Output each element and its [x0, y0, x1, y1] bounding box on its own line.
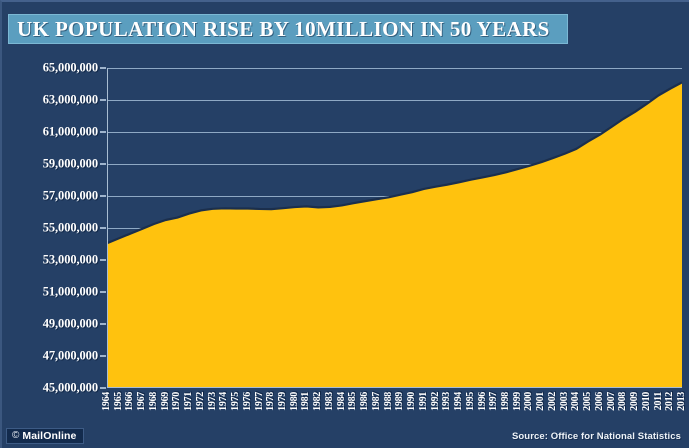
x-axis-tick-label: 1985: [348, 392, 358, 411]
x-axis-tick-label: 1981: [301, 392, 311, 411]
x-axis-tick-label: 1966: [125, 392, 135, 411]
x-axis-tick-label: 1976: [243, 392, 253, 411]
y-axis-tick-label: 55,000,000: [43, 221, 98, 236]
x-axis-tick-label: 2013: [677, 392, 687, 411]
page-title: UK POPULATION RISE BY 10MILLION IN 50 YE…: [17, 17, 550, 42]
population-area-chart: [107, 68, 682, 388]
x-axis-tick-label: 1971: [184, 392, 194, 411]
y-axis-tick-mark: [100, 323, 106, 325]
x-axis-tick-label: 1989: [395, 392, 405, 411]
x-axis-tick-label: 1979: [278, 392, 288, 411]
y-axis-tick-label: 59,000,000: [43, 157, 98, 172]
x-axis-tick-label: 1992: [431, 392, 441, 411]
x-axis-tick-label: 2011: [654, 392, 664, 410]
x-axis-tick-label: 1998: [501, 392, 511, 411]
x-axis-tick-label: 2012: [665, 392, 675, 411]
y-axis-tick-label: 57,000,000: [43, 189, 98, 204]
x-axis-tick-label: 2010: [642, 392, 652, 411]
x-axis-tick-label: 1987: [372, 392, 382, 411]
y-axis-tick-mark: [100, 355, 106, 357]
x-axis-tick-label: 1988: [384, 392, 394, 411]
source-note: Source: Office for National Statistics: [512, 431, 681, 442]
x-axis-tick-label: 1977: [255, 392, 265, 411]
y-axis-tick-label: 65,000,000: [43, 61, 98, 76]
area-series-fill: [107, 82, 682, 388]
y-axis-tick-mark: [100, 99, 106, 101]
chart-plot-area: [107, 68, 682, 388]
y-axis-tick-label: 51,000,000: [43, 285, 98, 300]
x-axis-tick-label: 1974: [219, 392, 229, 411]
y-axis: 65,000,00063,000,00061,000,00059,000,000…: [2, 68, 98, 388]
y-axis-tick-mark: [100, 291, 106, 293]
x-axis-tick-label: 2008: [618, 392, 628, 411]
x-axis-tick-label: 2001: [536, 392, 546, 411]
x-axis-tick-label: 1970: [172, 392, 182, 411]
y-axis-tick-mark: [100, 227, 106, 229]
x-axis-tick-label: 1972: [196, 392, 206, 411]
infographic-root: UK POPULATION RISE BY 10MILLION IN 50 YE…: [0, 0, 689, 448]
x-axis-tick-label: 1973: [208, 392, 218, 411]
x-axis-tick-label: 1969: [161, 392, 171, 411]
y-axis-tick-mark: [100, 387, 106, 389]
copyright-icon: ©: [12, 431, 19, 441]
y-axis-tick-label: 47,000,000: [43, 349, 98, 364]
x-axis-tick-label: 2007: [607, 392, 617, 411]
x-axis-tick-label: 2006: [595, 392, 605, 411]
x-axis-tick-label: 1975: [231, 392, 241, 411]
chart-title-banner: UK POPULATION RISE BY 10MILLION IN 50 YE…: [8, 14, 568, 44]
y-axis-tick-mark: [100, 259, 106, 261]
y-axis-tick-label: 49,000,000: [43, 317, 98, 332]
y-axis-tick-mark: [100, 163, 106, 165]
x-axis-tick-label: 1986: [360, 392, 370, 411]
x-axis-tick-label: 1993: [442, 392, 452, 411]
x-axis-tick-label: 2009: [630, 392, 640, 411]
x-axis-tick-label: 1990: [407, 392, 417, 411]
x-axis-tick-label: 1983: [325, 392, 335, 411]
y-axis-tick-label: 63,000,000: [43, 93, 98, 108]
x-axis-tick-label: 1991: [419, 392, 429, 411]
x-axis-tick-label: 1996: [478, 392, 488, 411]
y-axis-tick-mark: [100, 195, 106, 197]
x-axis-tick-label: 1995: [466, 392, 476, 411]
x-axis-tick-label: 1980: [290, 392, 300, 411]
x-axis-tick-label: 1964: [102, 392, 112, 411]
x-axis-tick-label: 1984: [337, 392, 347, 411]
x-axis-tick-label: 1982: [313, 392, 323, 411]
x-axis-tick-label: 2003: [560, 392, 570, 411]
x-axis-tick-label: 1999: [513, 392, 523, 411]
mailonline-badge: © MailOnline: [6, 428, 84, 444]
x-axis-tick-label: 1978: [266, 392, 276, 411]
y-axis-tick-label: 61,000,000: [43, 125, 98, 140]
y-axis-tick-label: 53,000,000: [43, 253, 98, 268]
y-axis-tick-label: 45,000,000: [43, 381, 98, 396]
x-axis-tick-label: 1994: [454, 392, 464, 411]
x-axis-tick-label: 2005: [583, 392, 593, 411]
x-axis-tick-label: 2002: [548, 392, 558, 411]
x-axis-tick-label: 1968: [149, 392, 159, 411]
x-axis-tick-label: 2000: [524, 392, 534, 411]
x-axis-tick-label: 1997: [489, 392, 499, 411]
x-axis-tick-label: 1965: [114, 392, 124, 411]
x-axis-tick-label: 2004: [571, 392, 581, 411]
y-axis-tick-mark: [100, 131, 106, 133]
x-axis-tick-label: 1967: [137, 392, 147, 411]
y-axis-tick-mark: [100, 67, 106, 69]
mailonline-brand-label: MailOnline: [22, 430, 76, 442]
